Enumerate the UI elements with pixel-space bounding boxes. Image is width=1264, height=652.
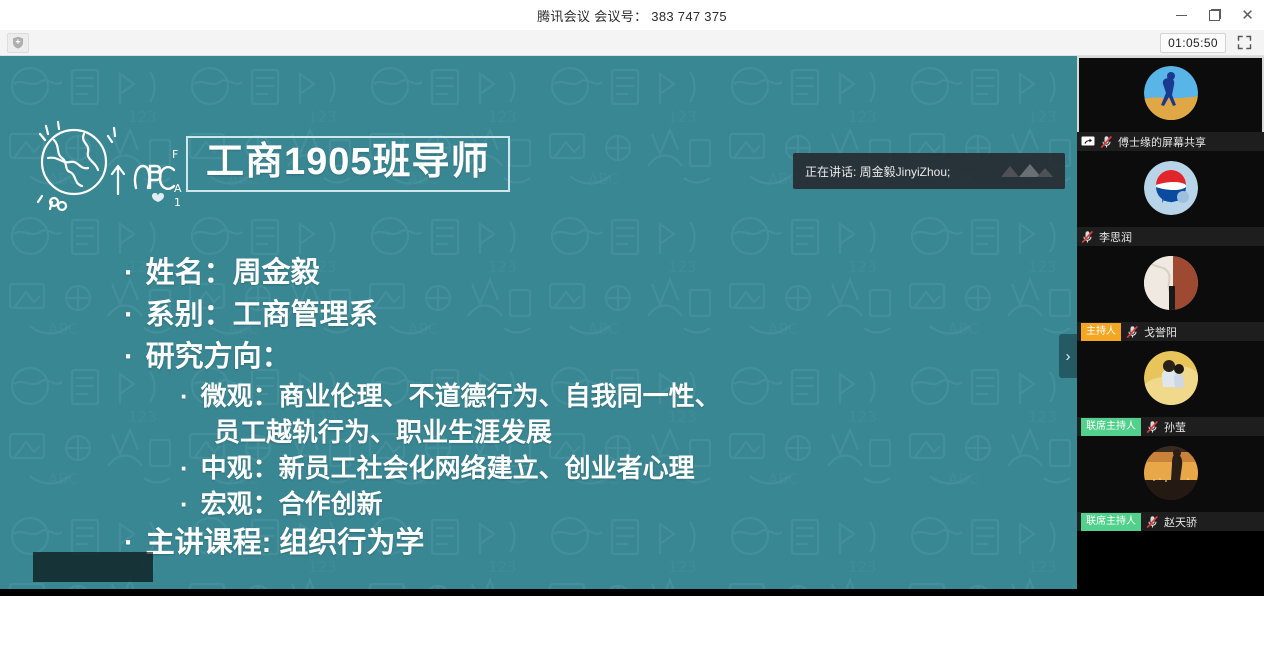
microphone-muted-icon — [1081, 230, 1094, 244]
svg-text:F: F — [172, 148, 178, 161]
participant-name: 戈誉阳 — [1144, 324, 1177, 340]
avatar-person-blue-sand — [1144, 66, 1198, 120]
slide-subbullet-text: 微观：商业伦理、不道德行为、自我同一性、 — [201, 381, 721, 411]
avatar — [1144, 256, 1198, 310]
avatar — [1144, 446, 1198, 500]
tile-label: 傅士缘的屏幕共享 — [1077, 132, 1264, 151]
restore-icon — [1209, 9, 1221, 21]
slide-bullet: ·研究方向： — [124, 336, 1037, 378]
meeting-stage: ABC 123 — [0, 56, 1264, 596]
close-button[interactable]: ✕ — [1231, 0, 1264, 30]
slide-bottom-strip — [0, 645, 1077, 652]
bullet-dot-icon: · — [124, 257, 134, 289]
microphone-muted-icon — [1146, 515, 1159, 529]
cohost-badge: 联席主持人 — [1081, 513, 1141, 531]
shield-icon — [12, 36, 24, 49]
bullet-dot-icon: · — [124, 299, 134, 331]
avatar-sunset-silhouette — [1144, 446, 1198, 500]
slide-title-box: 工商1905班导师 — [186, 136, 510, 192]
tile-label: 联席主持人 赵天骄 — [1077, 512, 1264, 531]
minimize-button[interactable] — [1165, 0, 1198, 30]
window-controls: ✕ — [1165, 0, 1264, 30]
participant-name: 赵天骄 — [1164, 514, 1197, 530]
participant-name: 傅士缘的屏幕共享 — [1118, 134, 1206, 150]
bullet-dot-icon: · — [180, 489, 189, 519]
slide-subbullet-text: 宏观：合作创新 — [201, 489, 383, 519]
slide-subbullet: ·宏观：合作创新 — [124, 486, 1037, 522]
speaking-label: 正在讲话: 周金毅JinyiZhou; — [805, 163, 950, 180]
slide-bullet-text: 系别：工商管理系 — [146, 299, 378, 331]
avatar: pepsi — [1144, 161, 1198, 215]
bullet-dot-icon: · — [180, 453, 189, 483]
speaking-indicator: 正在讲话: 周金毅JinyiZhou; — [793, 153, 1065, 189]
slide-bullet: ·主讲课程: 组织行为学 — [124, 522, 1037, 564]
maximize-button[interactable] — [1198, 0, 1231, 30]
host-badge: 主持人 — [1081, 323, 1121, 341]
microphone-muted-icon — [1100, 135, 1113, 149]
bullet-dot-icon: · — [180, 381, 189, 411]
tile-label: 李思润 — [1077, 227, 1264, 246]
avatar-split-wall — [1144, 256, 1198, 310]
slide-subbullet: ·中观：新员工社会化网络建立、创业者心理 — [124, 450, 1037, 486]
window-titlebar: 腾讯会议 会议号： 383 747 375 ✕ — [0, 0, 1264, 30]
avatar-couple-yellow — [1144, 351, 1198, 405]
minimize-icon — [1176, 15, 1187, 16]
microphone-muted-icon — [1126, 325, 1139, 339]
svg-text:1: 1 — [174, 196, 181, 209]
meeting-toolbar: 01:05:50 — [0, 30, 1264, 56]
participant-tile[interactable]: pepsi 李思润 — [1077, 151, 1264, 246]
participant-name: 孙莹 — [1164, 419, 1186, 435]
audio-wave-icon — [997, 161, 1053, 181]
slide-subbullet-text: 中观：新员工社会化网络建立、创业者心理 — [201, 453, 695, 483]
participant-tile[interactable]: 傅士缘的屏幕共享 — [1077, 56, 1264, 151]
fullscreen-button[interactable] — [1234, 33, 1254, 53]
slide-subbullet-continuation: 员工越轨行为、职业生涯发展 — [180, 414, 1037, 450]
screen-share-icon — [1081, 136, 1095, 147]
slide-bullet: ·系别：工商管理系 — [124, 294, 1037, 336]
security-button[interactable] — [7, 33, 29, 53]
microphone-muted-icon — [1146, 420, 1159, 434]
fullscreen-icon — [1237, 35, 1252, 50]
close-icon: ✕ — [1241, 8, 1254, 23]
toolbar-right-group: 01:05:50 — [1160, 33, 1264, 53]
slide-bullet-text: 主讲课程: 组织行为学 — [146, 527, 425, 559]
globe-doodle-svg: FA1 — [24, 114, 184, 214]
participant-tile[interactable]: 联席主持人 赵天骄 — [1077, 436, 1264, 531]
avatar — [1144, 66, 1198, 120]
globe-doodle-icon: FA1 — [24, 114, 184, 214]
meeting-timer: 01:05:50 — [1160, 33, 1226, 53]
shared-screen[interactable]: ABC 123 — [0, 56, 1077, 589]
participant-tile[interactable]: 主持人 戈誉阳 — [1077, 246, 1264, 341]
participant-name: 李思润 — [1099, 229, 1132, 245]
slide-bullet-text: 研究方向： — [146, 341, 291, 373]
chevron-right-icon: › — [1066, 348, 1071, 365]
window-title: 腾讯会议 会议号： 383 747 375 — [537, 6, 727, 25]
slide-bullet-text: 姓名：周金毅 — [146, 257, 320, 289]
slide-title: 工商1905班导师 — [206, 143, 490, 181]
avatar — [1144, 351, 1198, 405]
collapse-panel-button[interactable]: › — [1059, 334, 1077, 378]
svg-text:A: A — [174, 182, 182, 195]
cohost-badge: 联席主持人 — [1081, 418, 1141, 436]
participant-rail: 傅士缘的屏幕共享 pepsi — [1077, 56, 1264, 596]
participant-tile[interactable]: 联席主持人 孙莹 — [1077, 341, 1264, 436]
tooltip-overlay — [33, 552, 153, 582]
bullet-dot-icon: · — [124, 341, 134, 373]
tile-label: 联席主持人 孙莹 — [1077, 417, 1264, 436]
avatar-pepsi-logo: pepsi — [1144, 161, 1198, 215]
slide-subbullet: ·微观：商业伦理、不道德行为、自我同一性、 员工越轨行为、职业生涯发展 — [124, 378, 1037, 450]
tile-label: 主持人 戈誉阳 — [1077, 322, 1264, 341]
slide-bullet: ·姓名：周金毅 — [124, 252, 1037, 294]
slide-body: ·姓名：周金毅 ·系别：工商管理系 ·研究方向： ·微观：商业伦理、不道德行为、… — [124, 252, 1037, 564]
